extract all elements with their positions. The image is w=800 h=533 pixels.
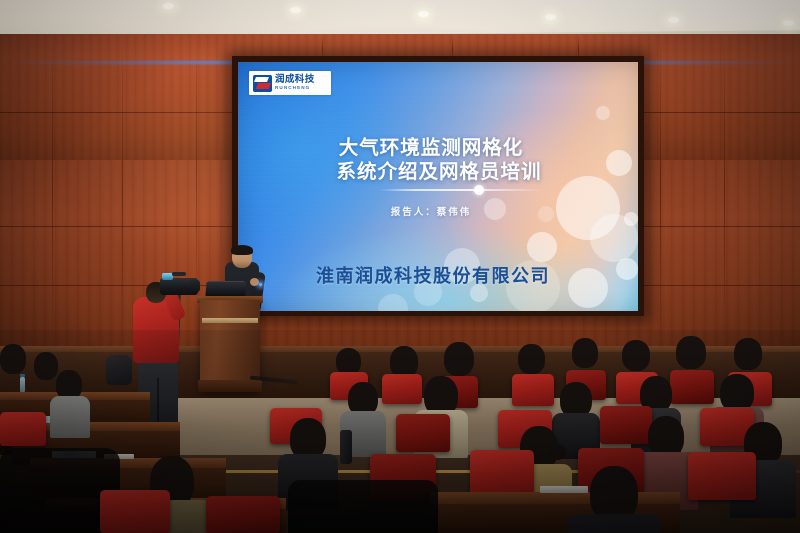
slide-divider-dot [474, 185, 484, 195]
logo-english-text: RUNCHENG [275, 86, 327, 91]
slide-title-line-1: 大气环境监测网格化 [238, 136, 624, 160]
downlight-2 [290, 7, 301, 13]
hair-bun [550, 444, 566, 460]
chair [206, 496, 280, 533]
chair [670, 370, 714, 404]
camera-lens-icon [190, 280, 200, 292]
presenter-hair [231, 245, 253, 255]
slide-divider-line [380, 189, 544, 191]
desk-top [430, 492, 680, 504]
thermos-flask [340, 430, 352, 464]
chair [100, 490, 170, 533]
chair [470, 450, 534, 496]
chair [688, 452, 756, 500]
downlight-3 [418, 11, 429, 17]
downlight-1 [163, 3, 174, 9]
logo-text-block: 润成科技 RUNCHENG [275, 75, 327, 90]
slide-title: 大气环境监测网格化 系统介绍及网格员培训 [238, 136, 624, 185]
presenter-hand [250, 278, 259, 286]
downlight-5 [668, 17, 679, 23]
chair [0, 412, 46, 446]
logo-chinese-text: 润成科技 [275, 75, 327, 85]
wall-panel-line-8 [724, 36, 725, 346]
runcheng-swoosh-icon [253, 75, 272, 92]
wall-panel-line-2 [122, 36, 123, 346]
company-logo: 润成科技 RUNCHENG [249, 71, 331, 95]
camera-microphone [172, 272, 186, 276]
podium-trim [202, 318, 258, 323]
chair [600, 406, 652, 444]
chair [512, 374, 554, 406]
foreground-silhouette-right [288, 480, 438, 533]
downlight-4 [545, 14, 556, 20]
water-bottle [20, 377, 25, 392]
audience-area [0, 330, 800, 533]
paper-sheet [540, 486, 588, 493]
bottle-cap [20, 374, 25, 377]
slide-title-line-2: 系统介绍及网格员培训 [254, 160, 624, 184]
conference-hall-photo: 润成科技 RUNCHENG 大气环境监测网格化 系统介绍及网格员培训 报告人：蔡… [0, 0, 800, 533]
chair [382, 374, 422, 404]
projection-screen: 润成科技 RUNCHENG 大气环境监测网格化 系统介绍及网格员培训 报告人：蔡… [238, 62, 638, 311]
microphone-led-icon [259, 283, 262, 286]
laptop-on-podium [205, 282, 246, 296]
slide-company-name: 淮南润成科技股份有限公司 [238, 262, 628, 288]
wall-panel-line-1 [52, 36, 53, 346]
wall-panel-line-7 [660, 36, 661, 346]
slide-presenter-line: 报告人：蔡伟伟 [238, 204, 624, 218]
chair [396, 414, 450, 452]
wall-panel-line-3 [196, 36, 197, 296]
downlight-6 [783, 20, 794, 26]
